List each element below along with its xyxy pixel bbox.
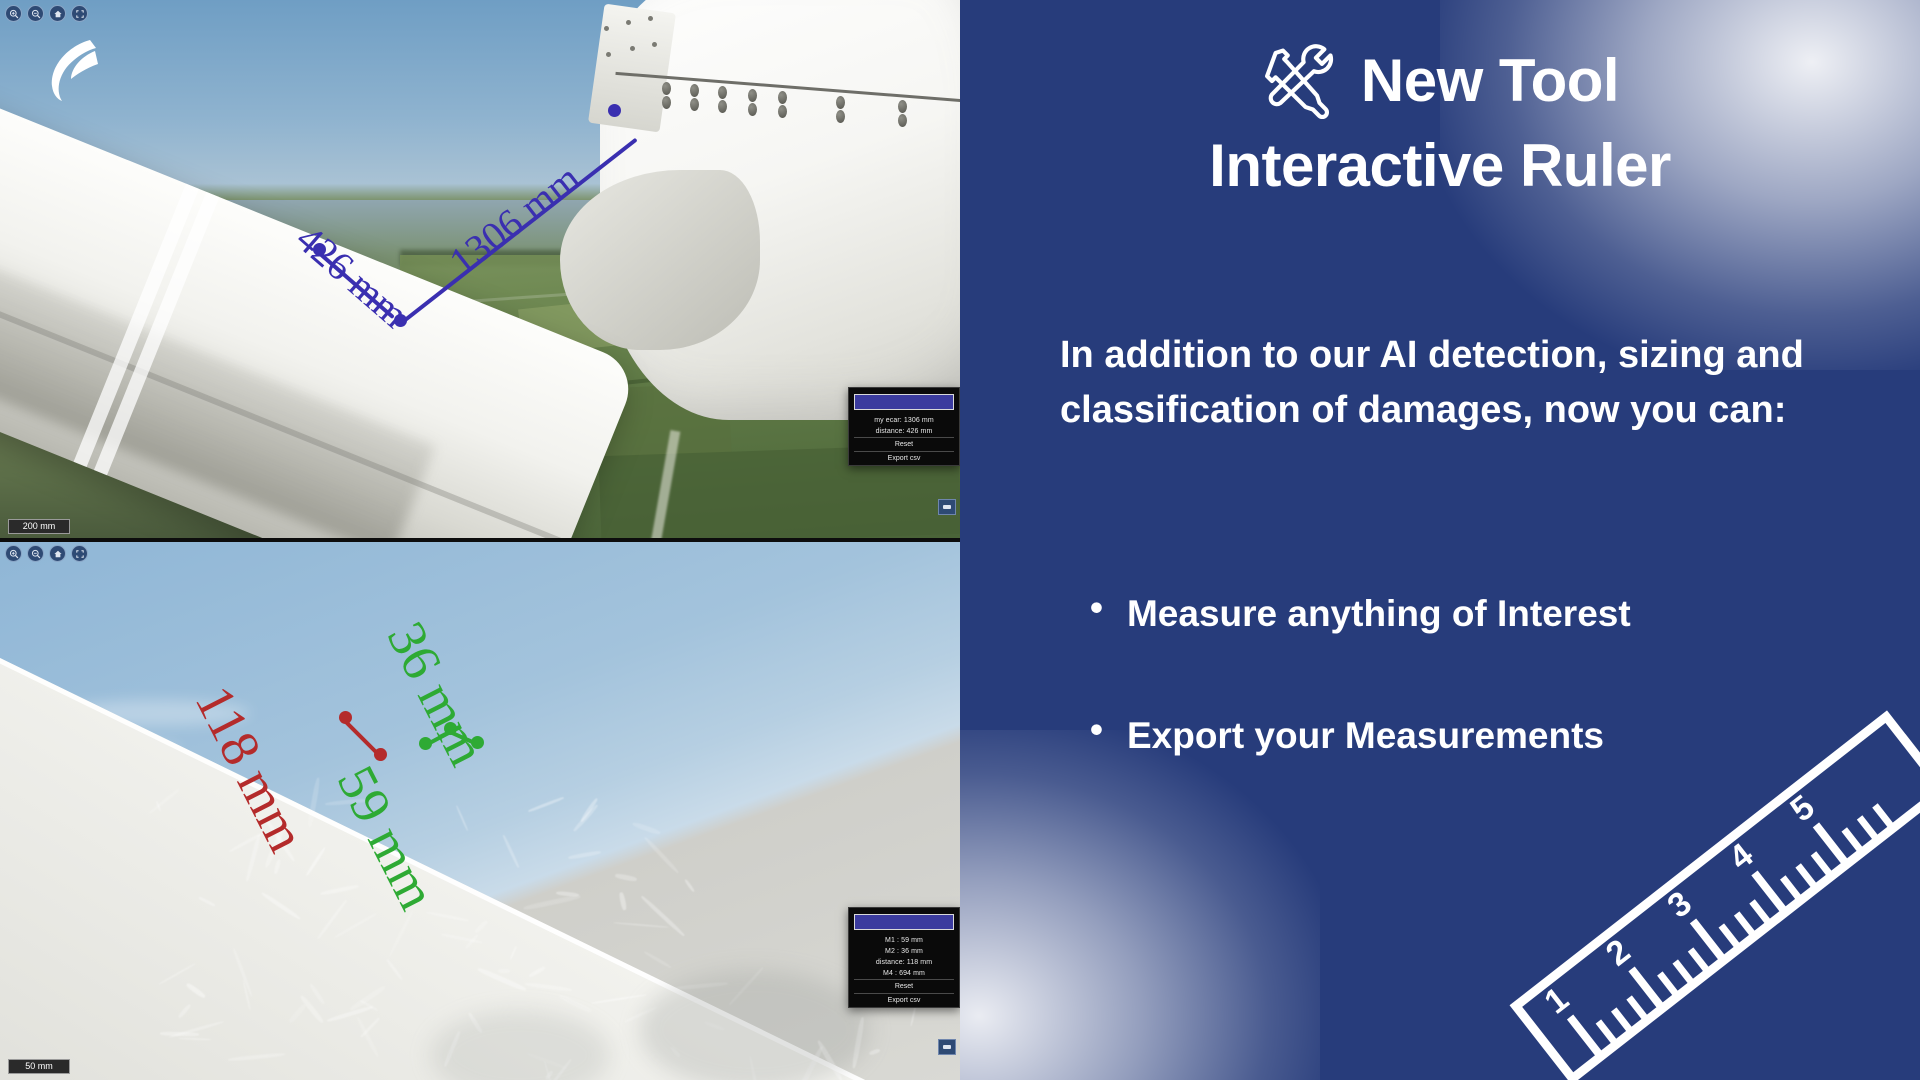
surface-stain: [640, 970, 870, 1080]
surface-scratch: [528, 796, 564, 812]
headline-line-1: New Tool: [1361, 38, 1619, 123]
zoom-out-icon[interactable]: [27, 545, 44, 562]
marketing-panel: New Tool Interactive Ruler In addition t…: [960, 0, 1920, 1080]
measurement-hud-bottom[interactable]: M1 : 59 mm M2 : 36 mm distance: 118 mm M…: [848, 907, 960, 1008]
hub-cone: [560, 170, 760, 350]
fullscreen-icon[interactable]: [71, 5, 88, 22]
flange-rivet: [626, 20, 631, 25]
surface-scratch: [632, 821, 661, 835]
flange-rivet: [652, 42, 657, 47]
surface-scratch: [455, 805, 468, 831]
viewer-column: 426 mm 1306 mm 200 mm: [0, 0, 960, 1080]
ruler-minor-tick: [1691, 949, 1709, 972]
blade-root-photo: [0, 0, 960, 540]
ruler-minor-tick: [1675, 961, 1693, 984]
hud-row: M1 : 59 mm: [854, 935, 954, 946]
color-swatch[interactable]: [854, 394, 954, 410]
bolt: [836, 110, 845, 123]
ruler-tick-label: 1: [1538, 980, 1576, 1022]
ruler-minor-tick: [1629, 998, 1647, 1021]
zoom-in-icon[interactable]: [5, 545, 22, 562]
ruler-minor-tick: [1875, 805, 1893, 828]
reset-button[interactable]: Reset: [854, 437, 954, 451]
ruler-minor-tick: [1783, 877, 1801, 900]
home-icon[interactable]: [49, 5, 66, 22]
flange-rivet: [648, 16, 653, 21]
ruler-tick-label: 3: [1661, 884, 1699, 926]
ruler-graphic: 12345: [1470, 680, 1920, 1080]
tools-hammer-wrench-icon: [1261, 42, 1339, 120]
ruler-minor-tick: [1814, 853, 1832, 876]
surface-scratch: [869, 1048, 880, 1055]
surface-scratch: [615, 873, 637, 882]
minimize-icon[interactable]: [938, 499, 956, 515]
minimize-icon[interactable]: [938, 1039, 956, 1055]
ruler-tick-label: 2: [1599, 932, 1637, 974]
flange-rivet: [604, 26, 609, 31]
ruler-tick-label: 5: [1783, 788, 1821, 830]
ruler-icon: 12345: [1470, 680, 1920, 1080]
hud-row: M4 : 694 mm: [854, 968, 954, 979]
surface-scratch: [567, 850, 600, 859]
ruler-minor-tick: [1737, 913, 1755, 936]
panel-body-text: In addition to our AI detection, sizing …: [1060, 328, 1840, 438]
bullet-text: Measure anything of Interest: [1127, 588, 1631, 640]
headline-line-2: Interactive Ruler: [960, 123, 1920, 208]
bolt: [778, 105, 787, 118]
surface-scratch: [640, 895, 685, 937]
measurement-hud-top[interactable]: my ecar: 1306 mm distance: 426 mm Reset …: [848, 387, 960, 466]
swoosh-logo-icon: [38, 32, 100, 102]
surface-scratch: [502, 835, 520, 869]
scale-bar-top: 200 mm: [8, 519, 70, 534]
ruler-minor-tick: [1752, 901, 1770, 924]
ruler-minor-tick: [1860, 817, 1878, 840]
surface-scratch: [572, 803, 598, 832]
reset-button[interactable]: Reset: [854, 979, 954, 993]
viewer-toolbar-top[interactable]: [5, 5, 88, 22]
surface-scratch: [613, 922, 669, 929]
viewer-toolbar-bottom[interactable]: [5, 545, 88, 562]
surface-scratch: [643, 836, 680, 874]
bolt: [778, 91, 787, 104]
ruler-minor-tick: [1614, 1010, 1632, 1033]
home-icon[interactable]: [49, 545, 66, 562]
bolt: [836, 96, 845, 109]
ruler-minor-tick: [1721, 925, 1739, 948]
ruler-tick-label: 4: [1722, 836, 1760, 878]
bolt: [662, 82, 671, 95]
flange-rivet: [630, 46, 635, 51]
blade-root-viewer[interactable]: 426 mm 1306 mm 200 mm: [0, 0, 960, 540]
viewer-divider: [0, 538, 960, 542]
blade-soiling: [0, 214, 436, 540]
zoom-out-icon[interactable]: [27, 5, 44, 22]
zoom-in-icon[interactable]: [5, 5, 22, 22]
fullscreen-icon[interactable]: [71, 545, 88, 562]
surface-scratch: [643, 951, 671, 969]
flange-rivet: [606, 52, 611, 57]
bolt: [748, 89, 757, 102]
ruler-major-tick: [1570, 1017, 1601, 1056]
blade-surface-photo: [0, 540, 960, 1080]
bullet-marker: •: [1090, 710, 1103, 751]
export-csv-button[interactable]: Export csv: [854, 993, 954, 1007]
scale-bar-bottom: 50 mm: [8, 1059, 70, 1074]
ruler-minor-tick: [1798, 865, 1816, 888]
surface-scratch: [684, 878, 695, 892]
color-swatch[interactable]: [854, 914, 954, 930]
ruler-minor-tick: [1598, 1022, 1616, 1045]
slide: 426 mm 1306 mm 200 mm: [0, 0, 1920, 1080]
ruler-minor-tick: [1660, 973, 1678, 996]
bolt: [748, 103, 757, 116]
export-csv-button[interactable]: Export csv: [854, 451, 954, 465]
hud-row: my ecar: 1306 mm: [854, 415, 954, 426]
bullet-marker: •: [1090, 588, 1103, 629]
bullet-item: • Measure anything of Interest: [1090, 588, 1890, 640]
panel-heading: New Tool Interactive Ruler: [960, 38, 1920, 208]
blade-surface-viewer[interactable]: 118 mm 36 mm 59 mm 50 mm: [0, 540, 960, 1080]
bolt: [662, 96, 671, 109]
surface-scratch: [619, 891, 627, 910]
hud-row: distance: 426 mm: [854, 426, 954, 437]
hud-row: distance: 118 mm: [854, 957, 954, 968]
ruler-minor-tick: [1844, 829, 1862, 852]
surface-scratch: [325, 798, 371, 806]
hud-row: M2 : 36 mm: [854, 946, 954, 957]
